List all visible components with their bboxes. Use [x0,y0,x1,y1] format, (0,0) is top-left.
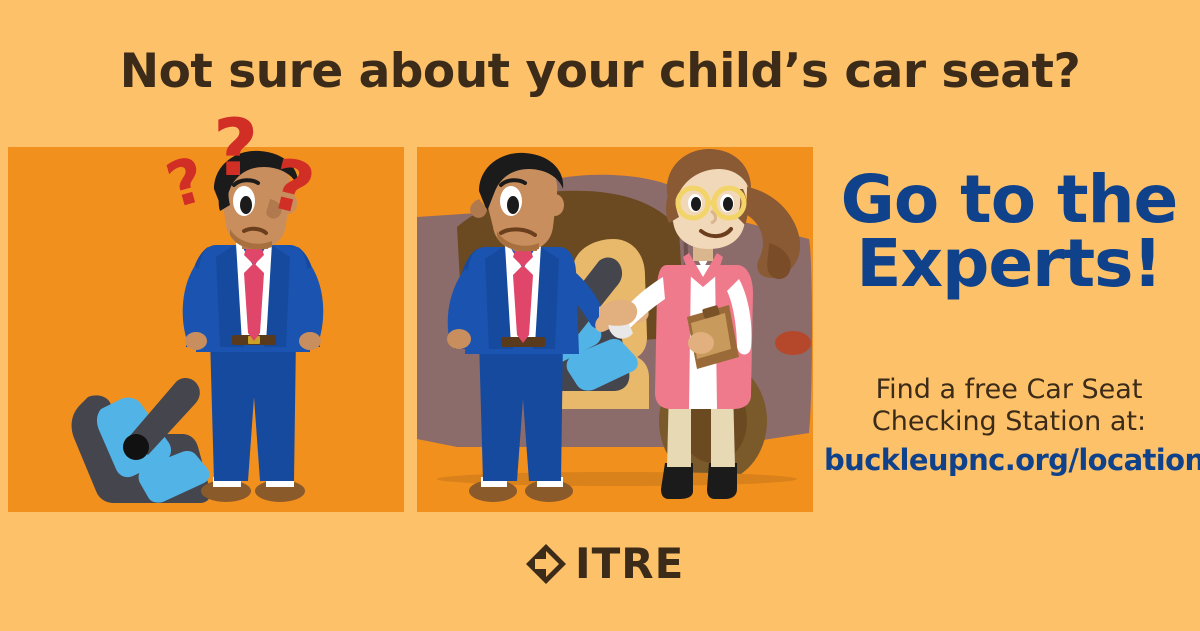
question-mark-2: ? [213,110,258,188]
cta-line-1: Go to the [824,168,1194,232]
itre-logo-text: ITRE [575,543,684,585]
find-line-1: Find a free Car Seat [824,374,1194,406]
website-url-link[interactable]: buckleupnc.org/locations [824,443,1200,477]
illustration-panel-expert-help [417,147,813,512]
headline-text: Not sure about your child’s car seat? [0,44,1200,99]
cta-line-2: Experts! [824,232,1194,296]
poster-canvas: Not sure about your child’s car seat? [0,0,1200,631]
find-instruction-text: Find a free Car Seat Checking Station at… [824,374,1194,439]
child-car-seat-illustration [72,378,211,503]
diamond-arrow-icon [524,542,568,586]
find-line-2: Checking Station at: [824,406,1194,438]
right-panel-artwork [417,147,813,512]
cta-heading: Go to the Experts! [824,168,1194,296]
itre-logo: ITRE [524,542,684,586]
